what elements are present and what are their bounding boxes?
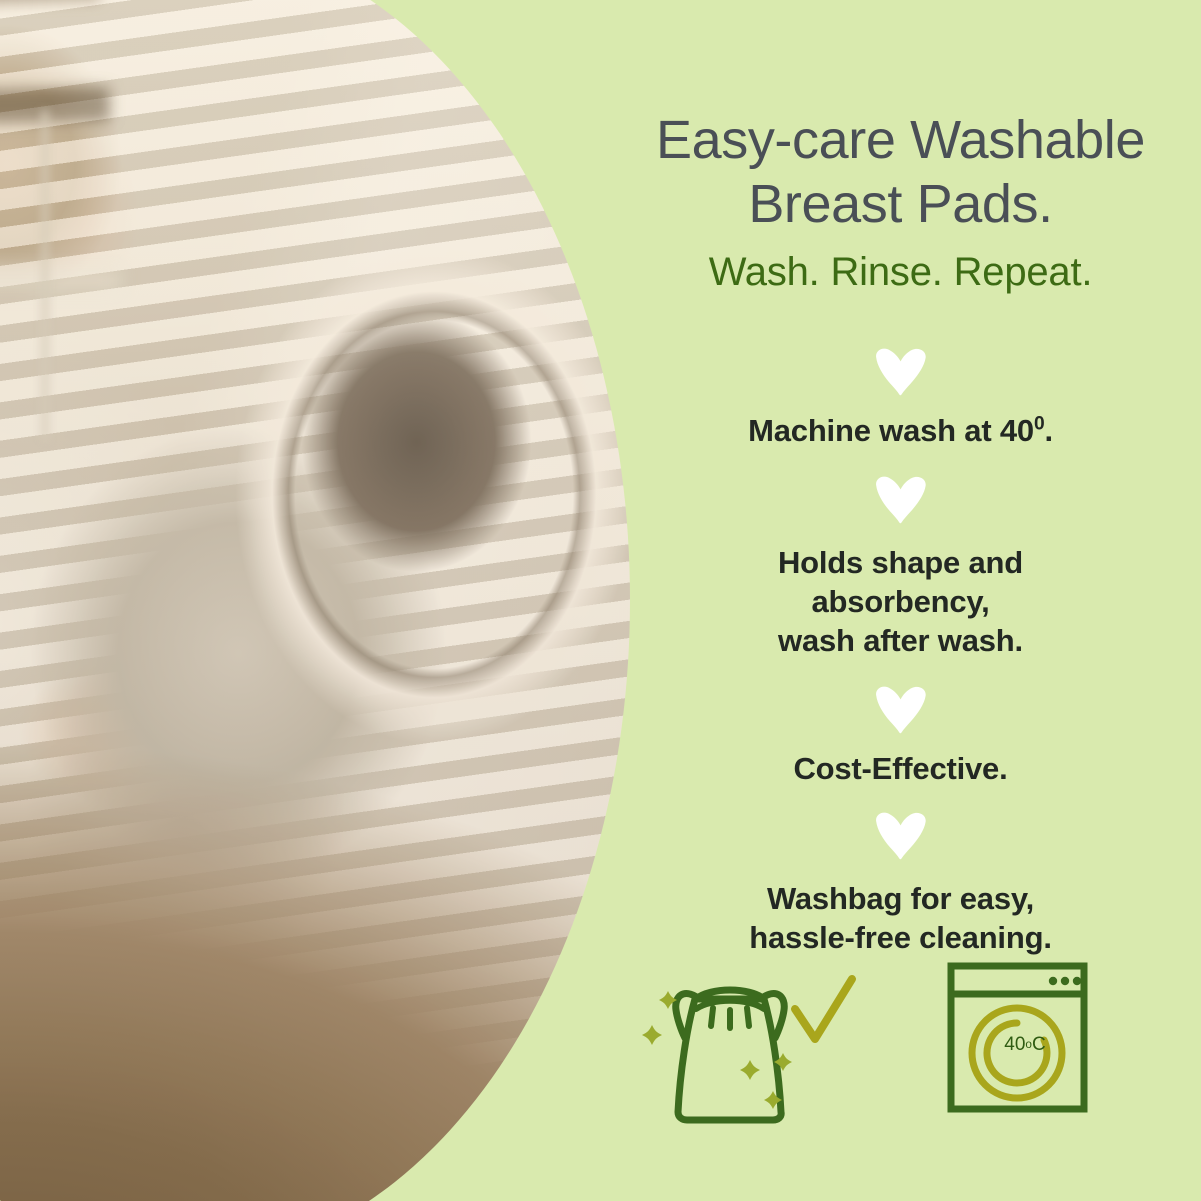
page-subtitle: Wash. Rinse. Repeat. [600,248,1201,296]
list-item-text-suffix: . [1044,413,1052,448]
background-shelf [0,0,100,12]
degree-superscript: 0 [1034,414,1044,435]
page-title: Easy-care Washable Breast Pads. [600,108,1201,236]
sparkle-icon [642,1025,662,1045]
heart-icon [872,686,930,734]
heart-icon [872,476,930,524]
control-dot [1061,977,1069,985]
machine-body [951,966,1084,1109]
washbag-with-check-icon [640,952,880,1142]
control-dot [1049,977,1057,985]
checkmark-icon [795,979,852,1039]
washbag-gather [711,1008,713,1026]
list-item: Holds shape and absorbency, wash after w… [600,476,1201,660]
heart-icon [872,348,930,396]
hero-photo-boy-loading-washing-machine [0,0,630,1201]
benefits-list: Machine wash at 400. Holds shape and abs… [600,348,1201,957]
background-shelf [0,87,110,127]
washbag-gather [747,1008,749,1026]
background-trim [40,110,50,440]
heart-icon [872,812,930,860]
poster-canvas: Easy-care Washable Breast Pads. Wash. Ri… [0,0,1201,1201]
list-item-label: Cost-Effective. [600,749,1201,788]
list-item: Washbag for easy, hassle-free cleaning. [600,812,1201,957]
washing-machine-icon [945,960,1105,1130]
machine-cycle-arrow [987,1023,1047,1083]
list-item-label: Machine wash at 400. [600,411,1201,450]
list-item-text: Machine wash at 40 [748,413,1034,448]
list-item: Machine wash at 400. [600,348,1201,450]
sparkle-icon [740,1060,760,1080]
background-shelf [0,270,120,290]
machine-control-dots [1049,977,1081,985]
hero-photo-clip [0,0,630,1201]
control-dot [1073,977,1081,985]
icon-row: 40oC [600,952,1201,1142]
list-item-label: Washbag for easy, hassle-free cleaning. [600,879,1201,957]
list-item: Cost-Effective. [600,686,1201,788]
content-panel: Easy-care Washable Breast Pads. Wash. Ri… [600,0,1201,1201]
list-item-label: Holds shape and absorbency, wash after w… [600,543,1201,660]
